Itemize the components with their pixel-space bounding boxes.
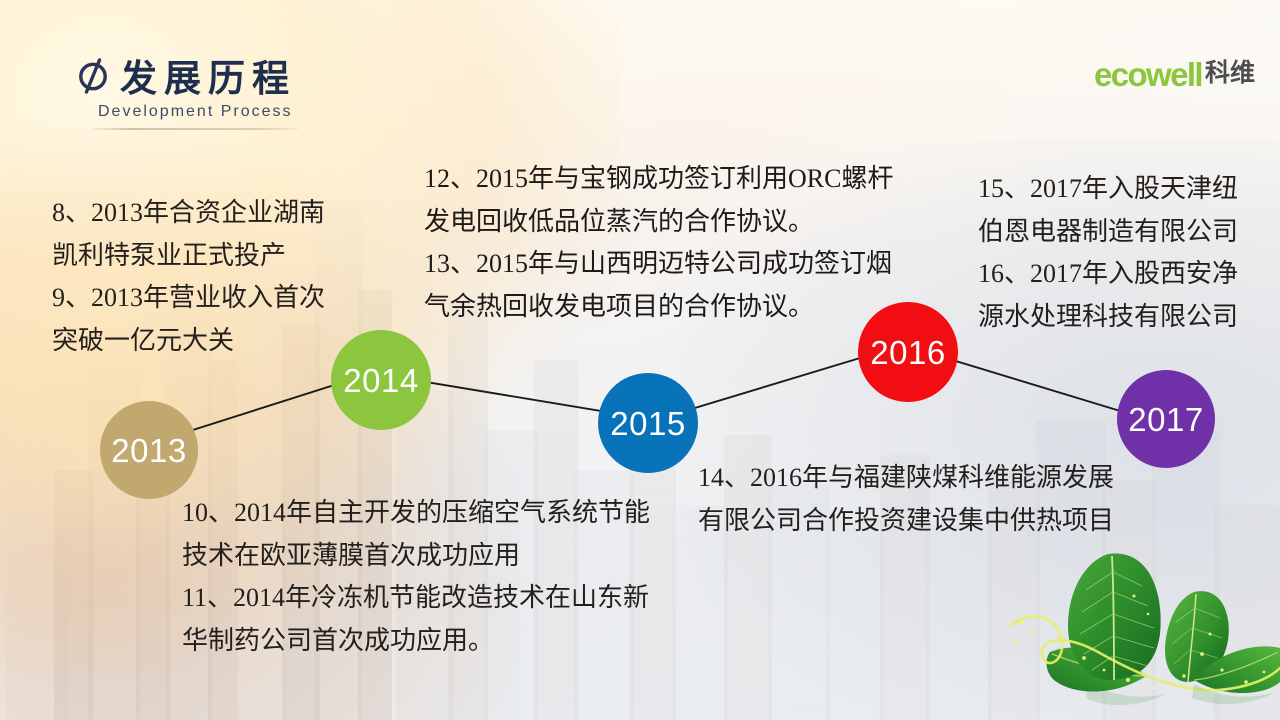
timeline-node-label: 2014 xyxy=(343,364,418,397)
timeline-node-2017[interactable]: 2017 xyxy=(1117,370,1215,468)
milestone-block-2015: 12、2015年与宝钢成功签订利用ORC螺杆 发电回收低品位蒸汽的合作协议。 1… xyxy=(424,158,944,329)
milestone-block-2017: 15、2017年入股天津纽 伯恩电器制造有限公司 16、2017年入股西安净 源… xyxy=(978,168,1268,339)
timeline-node-2015[interactable]: 2015 xyxy=(598,373,698,473)
slide-canvas: 发展历程 Development Process ecowell 科维 2013… xyxy=(0,0,1280,720)
milestone-block-2013: 8、2013年合资企业湖南 凯利特泵业正式投产 9、2013年营业收入首次 突破… xyxy=(52,192,382,363)
milestone-block-2014: 10、2014年自主开发的压缩空气系统节能 技术在欧亚薄膜首次成功应用 11、2… xyxy=(182,492,702,663)
timeline-node-2013[interactable]: 2013 xyxy=(100,401,198,499)
timeline-node-label: 2016 xyxy=(870,336,945,369)
timeline-node-label: 2015 xyxy=(610,407,685,440)
timeline-node-label: 2017 xyxy=(1128,403,1203,436)
timeline-node-label: 2013 xyxy=(111,434,186,467)
green-leaves-icon xyxy=(988,530,1280,720)
